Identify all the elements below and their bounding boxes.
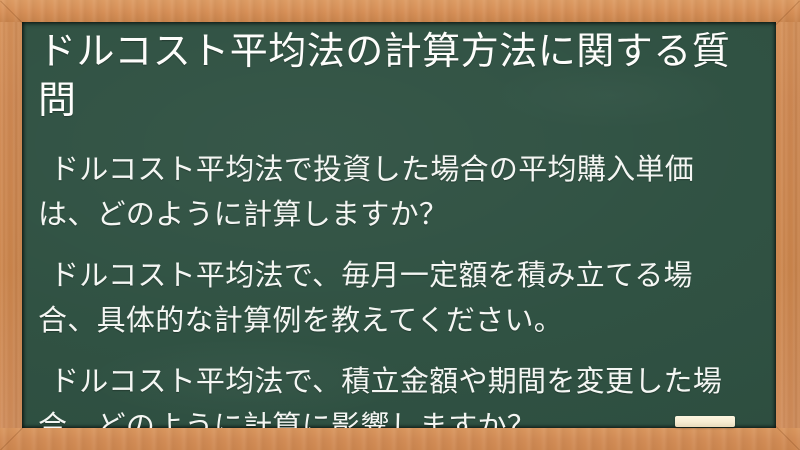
wooden-frame-bottom-rail [0, 428, 800, 450]
chalkboard-slide: ドルコスト平均法の計算方法に関する質問 ドルコスト平均法で投資した場合の平均購入… [0, 0, 800, 450]
question-item: ドルコスト平均法で投資した場合の平均購入単価は、どのように計算しますか？ [38, 148, 750, 238]
chalkboard-surface: ドルコスト平均法の計算方法に関する質問 ドルコスト平均法で投資した場合の平均購入… [22, 22, 776, 428]
chalk-stick [675, 416, 735, 427]
question-list: ドルコスト平均法で投資した場合の平均購入単価は、どのように計算しますか？ ドルコ… [38, 148, 750, 428]
question-item: ドルコスト平均法で、積立金額や期間を変更した場合、どのように計算に影響しますか？ [38, 360, 750, 428]
question-item: ドルコスト平均法で、毎月一定額を積み立てる場合、具体的な計算例を教えてください。 [38, 254, 750, 344]
wooden-frame-top-rail [0, 0, 800, 22]
slide-title: ドルコスト平均法の計算方法に関する質問 [38, 28, 738, 126]
